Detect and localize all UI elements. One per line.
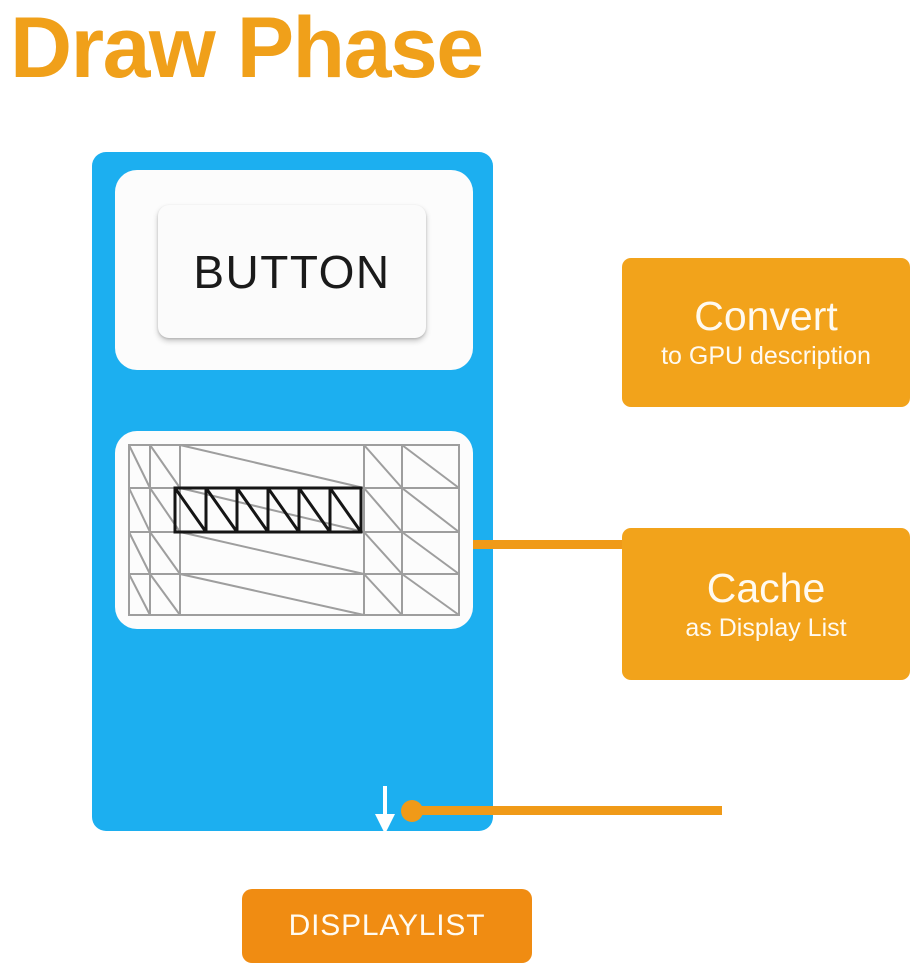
displaylist-label: DISPLAYLIST (289, 909, 486, 943)
button-chip[interactable]: BUTTON (158, 205, 426, 338)
callout-cache-subtitle: as Display List (685, 616, 846, 641)
displaylist-chip[interactable]: DISPLAYLIST (242, 889, 532, 963)
arrow-down-icon-mesh-to-displaylist (372, 786, 398, 836)
callout-convert-title: Convert (694, 296, 838, 337)
callout-convert: Convert to GPU description (622, 258, 910, 407)
callout-cache: Cache as Display List (622, 528, 910, 680)
connector-line-cache (412, 806, 722, 815)
button-chip-label: BUTTON (193, 245, 390, 299)
button-stage-card: BUTTON (115, 170, 473, 370)
mesh-stage-card (115, 431, 473, 629)
connector-dot-cache (401, 800, 423, 822)
page-title: Draw Phase (10, 2, 483, 95)
callout-convert-subtitle: to GPU description (661, 344, 871, 369)
callout-cache-title: Cache (707, 568, 826, 609)
pipeline-panel: BUTTON (92, 152, 493, 831)
gpu-triangle-mesh-icon (128, 444, 460, 616)
